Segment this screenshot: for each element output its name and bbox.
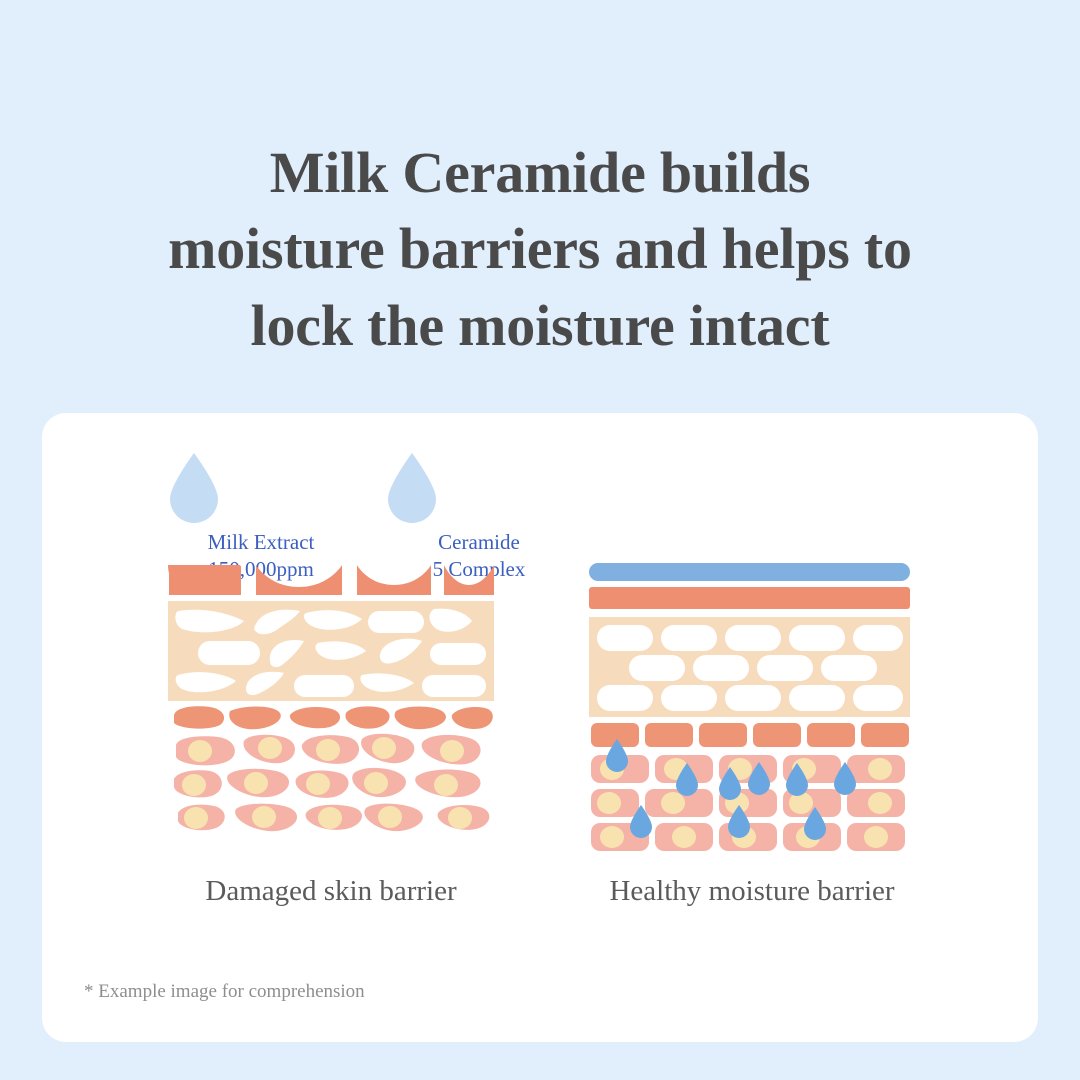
page-title-line-2: moisture barriers and helps to (60, 211, 1020, 288)
damaged-surface-segments (169, 565, 494, 595)
damaged-basal-brick-row (174, 706, 493, 729)
illustration-card: Milk Extract 150,000ppm Ceramide 5 Compl… (42, 413, 1038, 1042)
water-drop-icon (384, 451, 574, 523)
healthy-surface-layer (589, 587, 910, 609)
page-root: Milk Ceramide builds moisture barriers a… (0, 0, 1080, 1080)
page-title-line-3: lock the moisture intact (60, 288, 1020, 365)
caption-healthy-moisture-barrier: Healthy moisture barrier (542, 875, 962, 908)
page-title-line-1: Milk Ceramide builds (60, 135, 1020, 212)
page-title: Milk Ceramide builds moisture barriers a… (0, 135, 1080, 365)
diagram-healthy-moisture-barrier (587, 563, 912, 853)
diagram-damaged-skin-barrier (166, 563, 496, 853)
ingredient-badge-milk-extract-name: Milk Extract (166, 529, 356, 556)
water-drop-icon (166, 451, 356, 523)
damaged-corneocyte-cells (175, 609, 486, 697)
damaged-cell-rows (174, 734, 489, 831)
healthy-moisture-film-layer (589, 563, 910, 581)
ingredient-badge-ceramide-name: Ceramide (384, 529, 574, 556)
caption-damaged-skin-barrier: Damaged skin barrier (126, 875, 536, 908)
healthy-basal-brick-row (591, 723, 909, 747)
footnote-disclaimer: * Example image for comprehension (84, 981, 365, 1003)
